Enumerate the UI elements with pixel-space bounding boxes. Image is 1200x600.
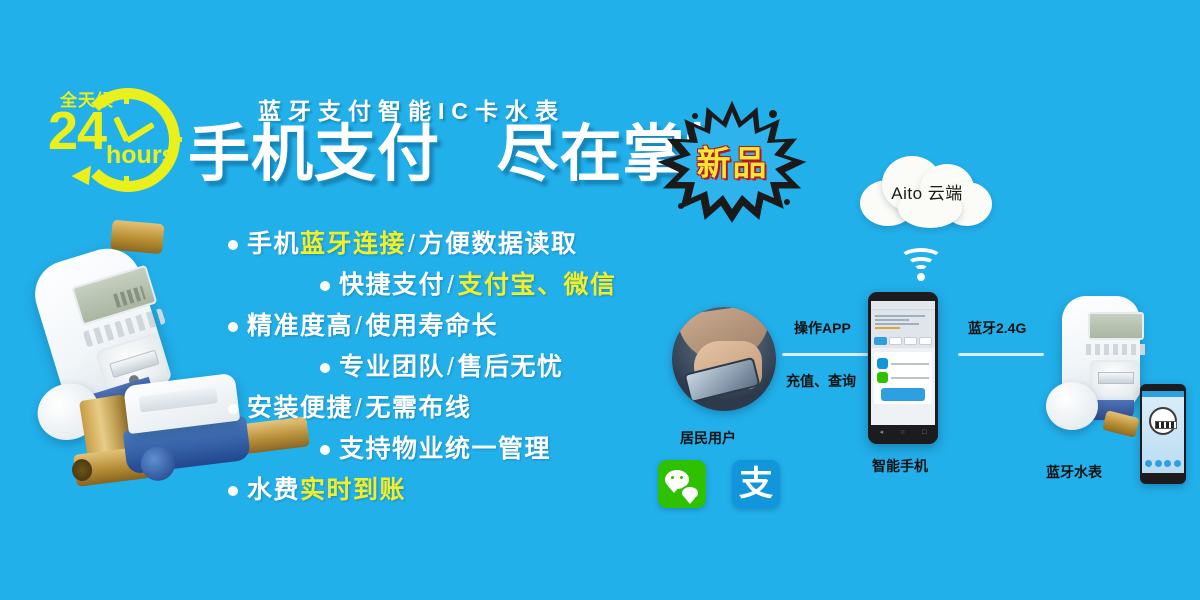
- amount-tab[interactable]: [874, 337, 887, 345]
- feature-pre: 水费: [247, 478, 300, 503]
- wechat-eye: [680, 476, 683, 479]
- smartphone-label: 智能手机: [872, 456, 928, 476]
- bullet-dot-icon: [320, 363, 330, 373]
- bullet-dot-icon: [228, 240, 238, 250]
- cloud-label: Aito 云端: [858, 152, 996, 230]
- meter-reading-app-phone: [1140, 384, 1186, 484]
- hours-number: 24: [48, 104, 106, 158]
- bullet-dot-icon: [228, 404, 238, 414]
- wechat-pay-icon[interactable]: [658, 460, 706, 508]
- feature-post: 方便数据读取: [418, 232, 577, 257]
- app-amount-tabs[interactable]: [871, 334, 935, 348]
- home-icon[interactable]: ○: [901, 429, 905, 436]
- feature-separator: /: [353, 314, 365, 339]
- wifi-arc-inner: [914, 265, 928, 273]
- new-product-label: 新品: [655, 98, 810, 223]
- 24-hours-badge: 全天候 24 hours: [48, 86, 188, 196]
- feature-pre: 支持物业统一管理: [339, 437, 551, 462]
- feature-pre: 安装便捷: [247, 396, 353, 421]
- list-item: 快捷支付 / 支付宝、微信: [320, 273, 698, 298]
- back-icon[interactable]: ◂: [880, 428, 884, 436]
- feature-post: 使用寿命长: [365, 314, 498, 339]
- toolbar-button[interactable]: [1155, 460, 1162, 467]
- meter-app-screen: [1142, 391, 1184, 473]
- meter-protective-cap: [1046, 382, 1098, 430]
- option-label-line: [891, 363, 929, 365]
- link-label-recharge-query: 充值、查询: [786, 371, 856, 391]
- feature-pre: 快捷支付: [339, 273, 445, 298]
- feature-post: 无需布线: [365, 396, 471, 421]
- payment-method-card: [874, 352, 932, 404]
- wechat-bubble-small: [680, 485, 700, 501]
- meter-lcd-display: [1088, 312, 1144, 340]
- connector-phone-to-meter: [958, 353, 1044, 356]
- bullet-dot-icon: [320, 445, 330, 455]
- connector-user-to-phone: [782, 353, 868, 356]
- app-account-info: [871, 310, 935, 334]
- wechat-eye: [671, 476, 674, 479]
- feature-highlight: 实时到账: [300, 478, 406, 503]
- hours-word: hours: [106, 143, 175, 168]
- cloud-shape-icon: Aito 云端: [858, 152, 996, 230]
- toolbar-button[interactable]: [1174, 460, 1181, 467]
- wifi-dot: [917, 273, 925, 281]
- feature-post: 售后无忧: [457, 355, 563, 380]
- meter-brass-fitting-top: [110, 220, 164, 254]
- bluetooth-water-meter-label: 蓝牙水表: [1046, 462, 1102, 482]
- amount-tab[interactable]: [904, 337, 917, 345]
- clock-tick-top-icon: [124, 92, 129, 104]
- bullet-dot-icon: [320, 281, 330, 291]
- meter-app-toolbar[interactable]: [1144, 460, 1182, 467]
- meter-keypad: [1086, 344, 1146, 355]
- option-label-line: [891, 377, 929, 379]
- amount-tab[interactable]: [919, 337, 932, 345]
- feature-pre: 精准度高: [247, 314, 353, 339]
- meter-mechanical-dial: [1090, 360, 1140, 398]
- feature-separator: /: [406, 232, 418, 257]
- feature-separator: /: [445, 273, 457, 298]
- smartphone-device: ◂ ○ □: [868, 292, 938, 444]
- wechat-icon: [877, 372, 888, 383]
- link-label-bluetooth: 蓝牙2.4G: [968, 318, 1026, 338]
- feature-pre: 专业团队: [339, 355, 445, 380]
- meter-reading-gauge: [1149, 407, 1177, 435]
- payment-brand-icons: 支: [658, 460, 780, 508]
- list-item: 手机 蓝牙连接 / 方便数据读取: [228, 232, 698, 257]
- list-item: 专业团队 / 售后无忧: [320, 355, 698, 380]
- title-part-1: 手机支付: [188, 120, 440, 189]
- bullet-dot-icon: [228, 322, 238, 332]
- alipay-icon[interactable]: 支: [732, 460, 780, 508]
- clock-tick-bottom-icon: [124, 176, 129, 188]
- feature-separator: /: [445, 355, 457, 380]
- bullet-dot-icon: [228, 486, 238, 496]
- feature-separator: /: [353, 396, 365, 421]
- feature-list: 手机 蓝牙连接 / 方便数据读取 快捷支付 / 支付宝、微信 精准度高 / 使用…: [228, 232, 698, 519]
- feature-highlight: 支付宝、微信: [457, 273, 616, 298]
- toolbar-button[interactable]: [1145, 460, 1152, 467]
- info-line: [875, 315, 925, 317]
- wifi-icon: [898, 248, 944, 282]
- list-item: 支持物业统一管理: [320, 437, 698, 462]
- toolbar-button[interactable]: [1164, 460, 1171, 467]
- info-line: [875, 323, 919, 325]
- alipay-icon: [877, 358, 888, 369]
- app-titlebar: [871, 301, 935, 310]
- info-line: [875, 319, 909, 321]
- payment-option-wechat[interactable]: [877, 372, 929, 383]
- list-item: 水费 实时到账: [228, 478, 698, 503]
- info-line: [875, 327, 900, 329]
- list-item: 安装便捷 / 无需布线: [228, 396, 698, 421]
- meter-brass-fitting: [1102, 410, 1140, 438]
- promo-banner: 全天候 24 hours 蓝牙支付智能IC卡水表 手机支付 尽在掌握 新品: [0, 0, 1200, 600]
- link-label-operate-app: 操作APP: [794, 318, 851, 338]
- resident-user-photo: [672, 307, 776, 411]
- recents-icon[interactable]: □: [922, 429, 926, 436]
- feature-highlight: 蓝牙连接: [300, 232, 406, 257]
- new-product-badge: 新品: [655, 98, 810, 223]
- payment-option-alipay[interactable]: [877, 358, 929, 369]
- smartphone-screen: [871, 301, 935, 425]
- meter-app-titlebar: [1142, 391, 1184, 397]
- amount-tab[interactable]: [889, 337, 902, 345]
- list-item: 精准度高 / 使用寿命长: [228, 314, 698, 339]
- resident-user-label: 居民用户: [680, 428, 736, 448]
- feature-pre: 手机: [247, 232, 300, 257]
- android-navbar[interactable]: ◂ ○ □: [871, 426, 935, 438]
- confirm-payment-button[interactable]: [881, 388, 925, 401]
